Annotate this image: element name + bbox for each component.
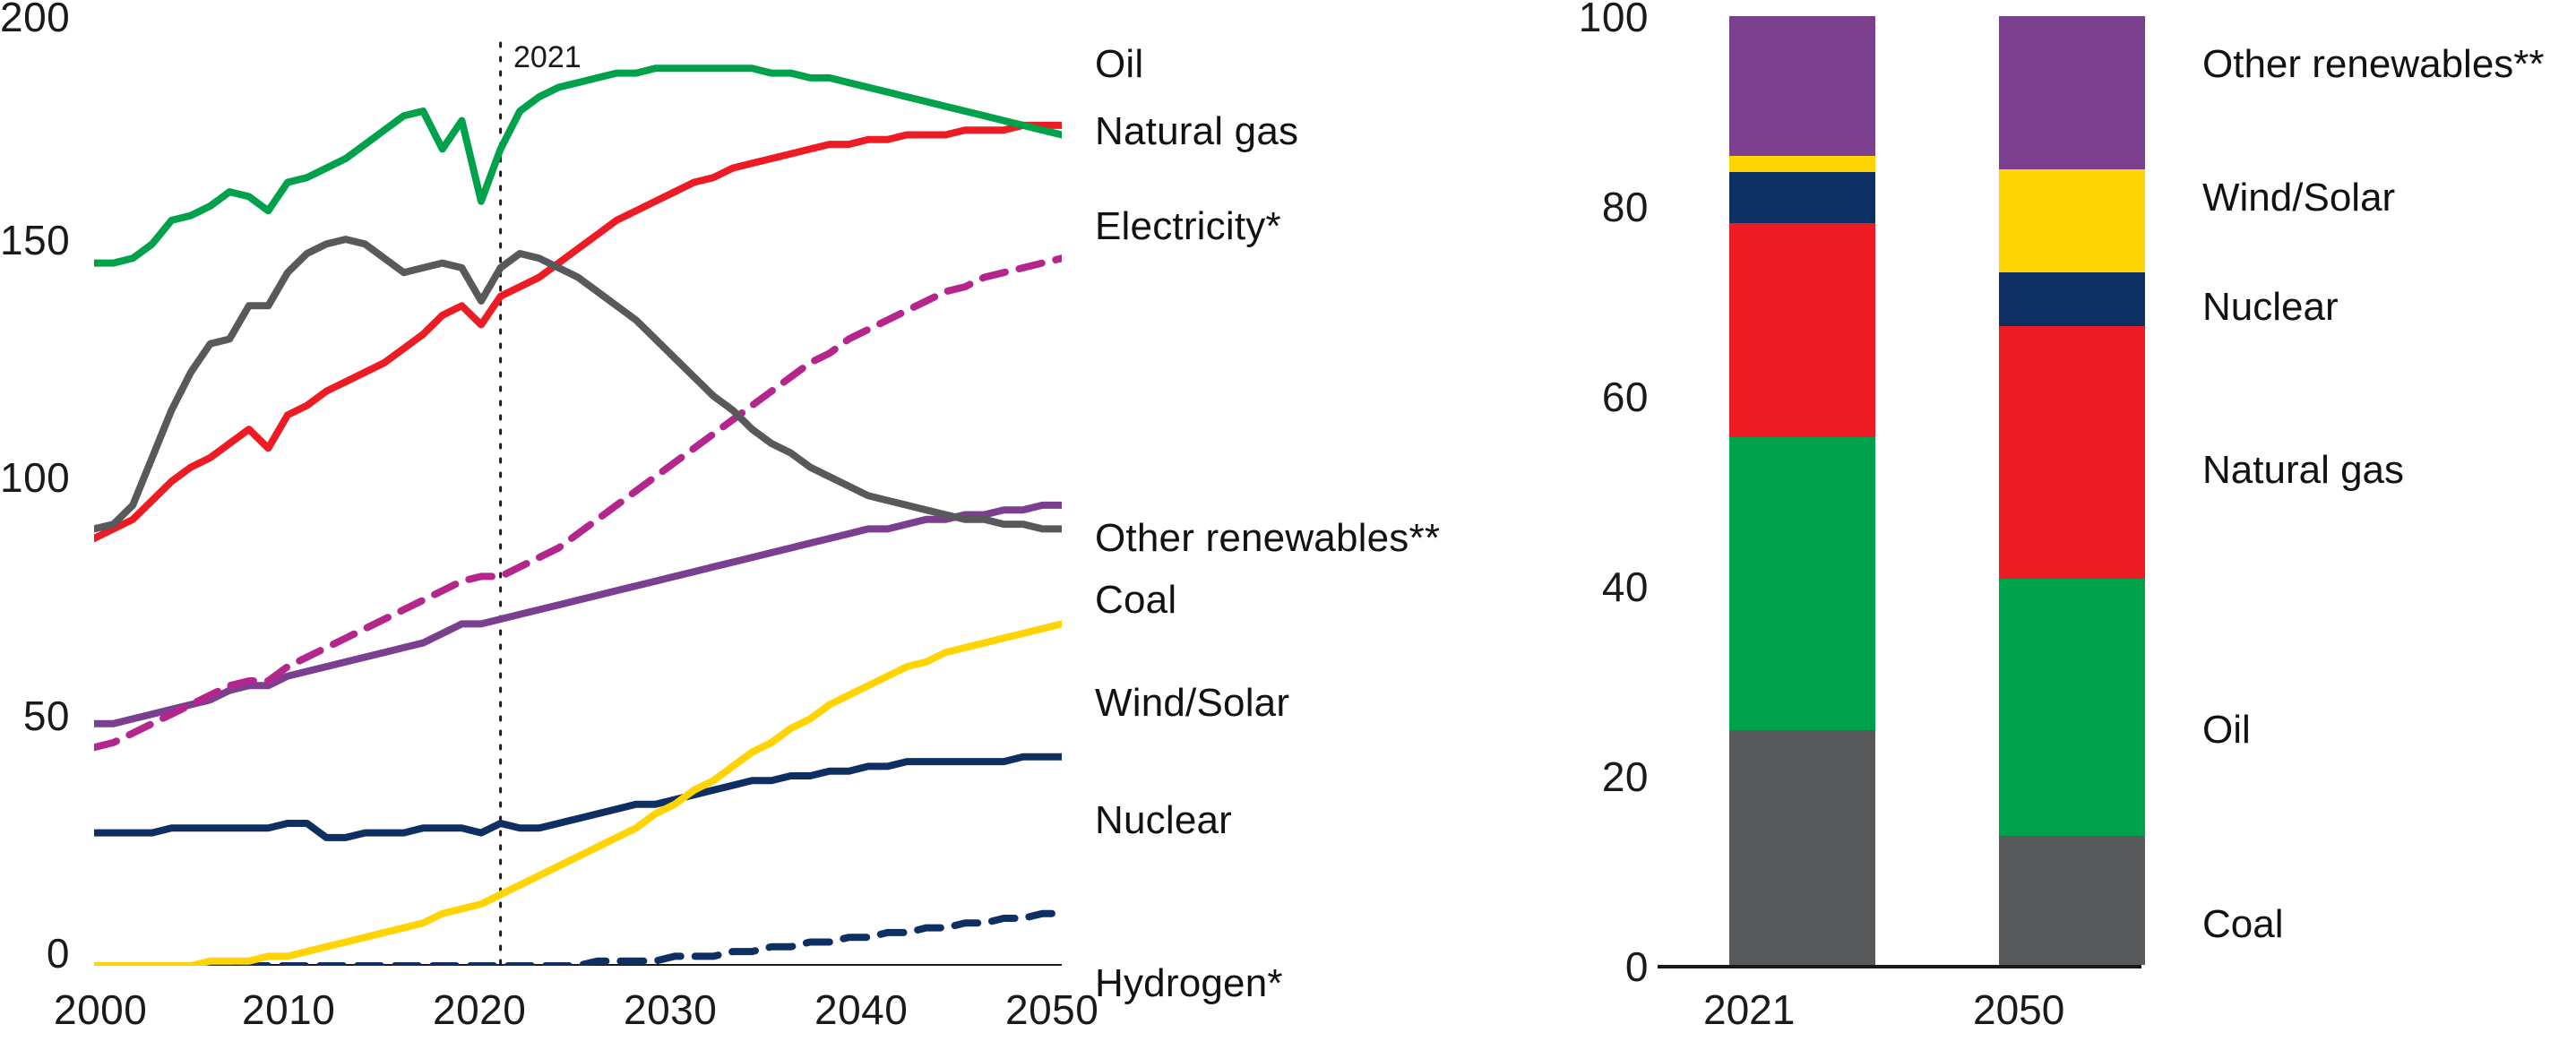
line-series-natural-gas [94, 125, 1062, 538]
bar-xtick-2021: 2021 [1703, 985, 1795, 1034]
line-series-nuclear [94, 757, 1062, 838]
line-label-nuclear: Nuclear [1095, 798, 1232, 843]
bar-xtick-2050: 2050 [1973, 985, 2064, 1034]
line-xtick-2020: 2020 [433, 985, 526, 1034]
line-label-wind-solar: Wind/Solar [1095, 681, 1289, 726]
bar-ytick-0: 0 [1523, 942, 1649, 991]
bar-2021[interactable] [1729, 16, 1875, 965]
bar-2050[interactable] [1999, 16, 2145, 965]
line-xtick-2030: 2030 [624, 985, 717, 1034]
bar-legend-other-renewables: Other renewables** [2202, 42, 2545, 87]
line-xtick-2000: 2000 [54, 985, 147, 1034]
bar-segment-natural-gas [1999, 326, 2145, 579]
bar-legend-coal: Coal [2202, 902, 2284, 947]
line-label-coal: Coal [1095, 578, 1176, 623]
line-ytick-50: 50 [0, 692, 70, 740]
chart-canvas: 200 150 100 50 0 2000 2010 2020 2030 204… [0, 0, 2576, 1050]
bar-segment-other-renewables [1999, 16, 2145, 168]
line-label-hydrogen: Hydrogen* [1095, 961, 1283, 1006]
line-ytick-100: 100 [0, 453, 70, 502]
line-series-oil [94, 68, 1062, 262]
bar-segment-other-renewables [1729, 16, 1875, 156]
bar-chart-panel: 100 80 60 40 20 0 2021 2050 Other renewa… [1523, 0, 2576, 1050]
bar-legend-wind-solar: Wind/Solar [2202, 176, 2395, 220]
bar-ytick-40: 40 [1523, 563, 1649, 611]
bar-segment-coal [1729, 730, 1875, 965]
line-xtick-2010: 2010 [242, 985, 335, 1034]
line-series-svg [94, 16, 1062, 966]
bar-ytick-60: 60 [1523, 373, 1649, 421]
line-label-natural-gas: Natural gas [1095, 109, 1298, 154]
line-ytick-150: 150 [0, 216, 70, 264]
line-label-electricity: Electricity* [1095, 204, 1281, 249]
line-series-coal [94, 239, 1062, 529]
line-xtick-2040: 2040 [814, 985, 908, 1034]
line-label-oil: Oil [1095, 42, 1143, 87]
bar-segment-nuclear [1729, 172, 1875, 223]
line-chart-panel: 200 150 100 50 0 2000 2010 2020 2030 204… [0, 0, 1523, 1050]
line-xtick-2050: 2050 [1005, 985, 1098, 1034]
bar-segment-coal [1999, 836, 2145, 965]
bar-segment-wind-solar [1999, 169, 2145, 272]
line-plot-area [94, 16, 1062, 966]
line-ytick-0: 0 [0, 929, 70, 977]
line-label-other-renewables: Other renewables** [1095, 516, 1440, 561]
bar-legend-nuclear: Nuclear [2202, 285, 2339, 330]
bar-legend-oil: Oil [2202, 708, 2251, 753]
line-series-electricity [94, 258, 1062, 747]
line-series-wind-solar [94, 624, 1062, 966]
bar-segment-wind-solar [1729, 156, 1875, 172]
bar-segment-oil [1729, 437, 1875, 730]
bar-segment-natural-gas [1729, 223, 1875, 437]
bar-ytick-80: 80 [1523, 183, 1649, 231]
line-ytick-200: 200 [0, 0, 70, 41]
bar-ytick-100: 100 [1523, 0, 1649, 41]
line-series-layer [94, 68, 1062, 966]
bar-ytick-20: 20 [1523, 753, 1649, 801]
bar-plot-area [1681, 16, 2120, 965]
bar-segment-nuclear [1999, 272, 2145, 326]
bar-segment-oil [1999, 579, 2145, 836]
bar-x-axis [1658, 965, 2141, 968]
bar-legend-natural-gas: Natural gas [2202, 448, 2404, 493]
